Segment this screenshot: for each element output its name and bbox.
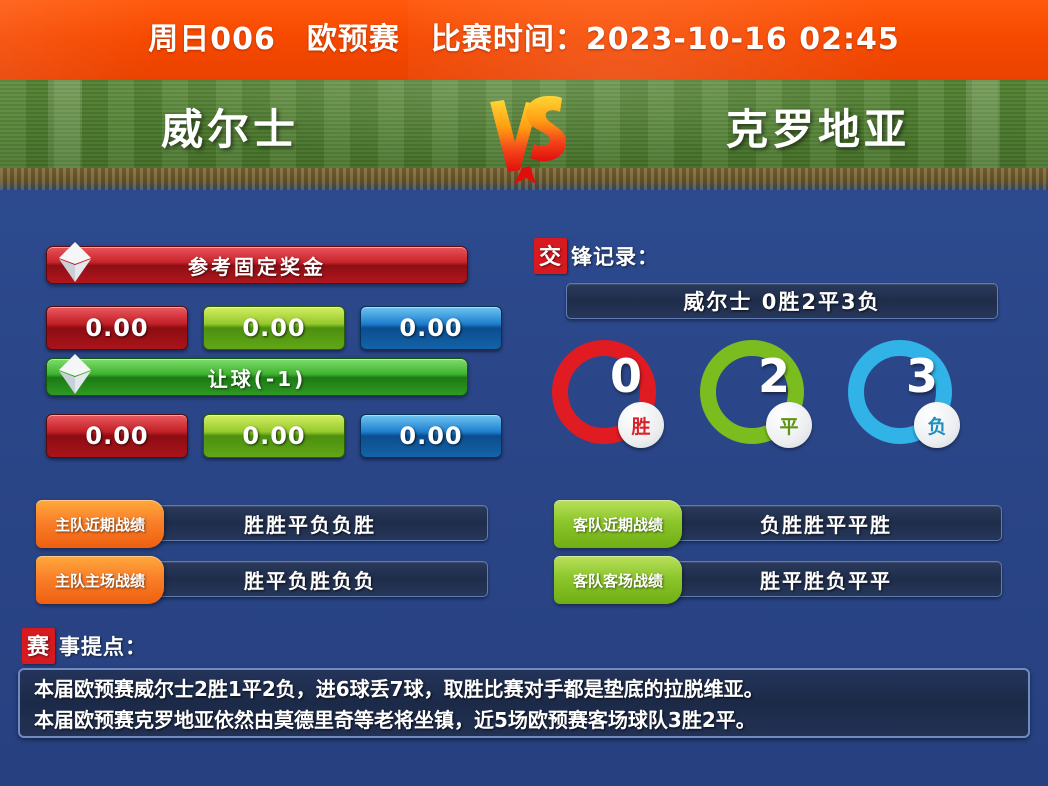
handicap-odds-row: 0.00 0.00 0.00: [46, 414, 502, 458]
ring-tag-win: 胜: [618, 402, 664, 448]
h2h-ring-lose: 3 负: [848, 340, 968, 460]
home-recent-form-row: 主队近期战绩 胜胜平负负胜: [36, 500, 486, 538]
h2h-label-text: 锋记录：: [571, 241, 659, 271]
away-recent-form-tab[interactable]: 客队近期战绩: [554, 500, 682, 548]
fixed-odds-row: 0.00 0.00 0.00: [46, 306, 502, 350]
fixed-bonus-title-text: 参考固定奖金: [188, 251, 326, 280]
header-title: 周日006 欧预赛 比赛时间：2023-10-16 02:45: [0, 0, 1048, 80]
home-recent-form-tab[interactable]: 主队近期战绩: [36, 500, 164, 548]
fixed-odd-lose[interactable]: 0.00: [360, 306, 502, 350]
fixed-odd-win[interactable]: 0.00: [46, 306, 188, 350]
notes-label-badge: 赛: [22, 628, 55, 664]
handicap-title-bar[interactable]: 让球(-1): [46, 358, 468, 396]
h2h-label-badge: 交: [534, 238, 567, 274]
notes-label-text: 事提点：: [59, 631, 147, 661]
h2h-section-label: 交 锋记录：: [534, 238, 659, 274]
h2h-ring-win: 0 胜: [552, 340, 672, 460]
home-home-form-row: 主队主场战绩 胜平负胜负负: [36, 556, 486, 594]
away-team-name: 克罗地亚: [628, 96, 1008, 157]
h2h-ring-draw: 2 平: [700, 340, 820, 460]
away-away-form-value: 胜平胜负平平: [650, 561, 1002, 597]
home-team-name: 威尔士: [40, 96, 420, 157]
ring-value: 0: [586, 348, 666, 404]
handicap-odd-draw[interactable]: 0.00: [203, 414, 345, 458]
home-recent-form-value: 胜胜平负负胜: [132, 505, 488, 541]
home-home-form-tab[interactable]: 主队主场战绩: [36, 556, 164, 604]
away-away-form-row: 客队客场战绩 胜平胜负平平: [554, 556, 1000, 594]
away-away-form-tab[interactable]: 客队客场战绩: [554, 556, 682, 604]
handicap-title-text: 让球(-1): [208, 363, 307, 392]
ring-value: 3: [882, 348, 962, 404]
fixed-odd-draw[interactable]: 0.00: [203, 306, 345, 350]
vs-flame-icon: [478, 88, 574, 188]
handicap-odd-lose[interactable]: 0.00: [360, 414, 502, 458]
gem-diamond-icon: [55, 240, 95, 284]
ring-tag-lose: 负: [914, 402, 960, 448]
ring-value: 2: [734, 348, 814, 404]
notes-line-2: 本届欧预赛克罗地亚依然由莫德里奇等老将坐镇，近5场欧预赛客场球队3胜2平。: [34, 705, 1014, 736]
notes-line-1: 本届欧预赛威尔士2胜1平2负，进6球丢7球，取胜比赛对手都是垫底的拉脱维亚。: [34, 674, 1014, 705]
away-recent-form-row: 客队近期战绩 负胜胜平平胜: [554, 500, 1000, 538]
header-bar: 周日006 欧预赛 比赛时间：2023-10-16 02:45: [0, 0, 1048, 80]
notes-box: 本届欧预赛威尔士2胜1平2负，进6球丢7球，取胜比赛对手都是垫底的拉脱维亚。 本…: [18, 668, 1030, 738]
ring-tag-draw: 平: [766, 402, 812, 448]
h2h-summary-box: 威尔士 0胜2平3负: [566, 283, 998, 319]
handicap-odd-win[interactable]: 0.00: [46, 414, 188, 458]
match-preview-page: 周日006 欧预赛 比赛时间：2023-10-16 02:45 威尔士 克罗地亚: [0, 0, 1048, 786]
gem-diamond-icon: [55, 352, 95, 396]
home-home-form-value: 胜平负胜负负: [132, 561, 488, 597]
fixed-bonus-title-bar[interactable]: 参考固定奖金: [46, 246, 468, 284]
notes-section-label: 赛 事提点：: [22, 628, 147, 664]
away-recent-form-value: 负胜胜平平胜: [650, 505, 1002, 541]
